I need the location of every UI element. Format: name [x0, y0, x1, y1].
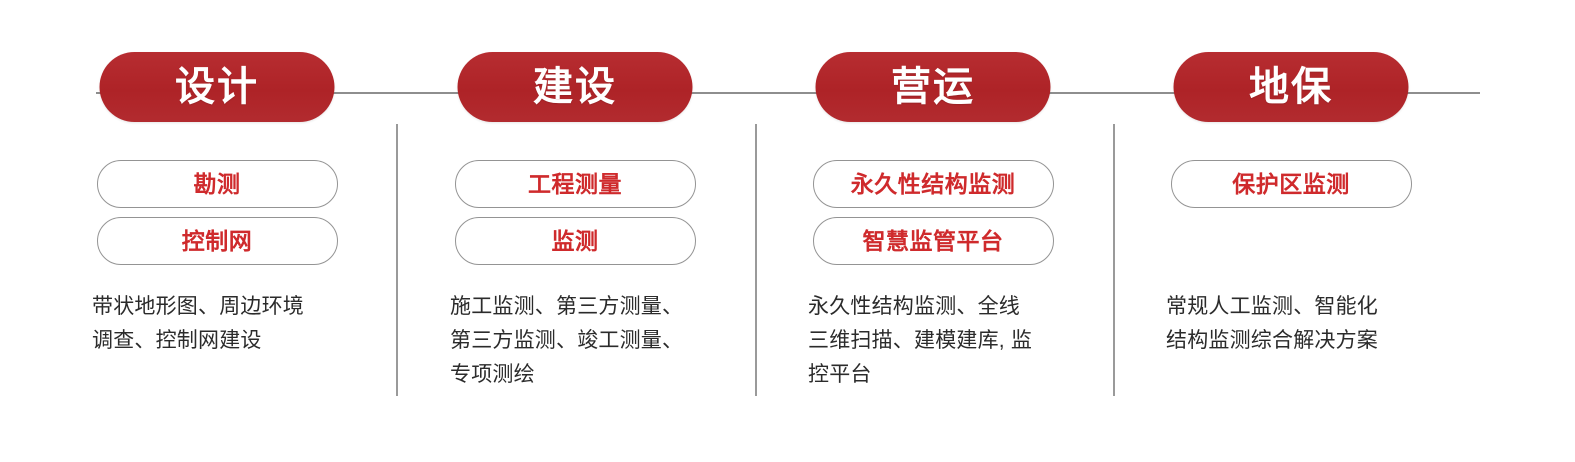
sub-pill-item[interactable]: 工程测量 — [455, 160, 696, 208]
stage-header-label: 营运 — [891, 67, 975, 107]
description-line: 控平台 — [808, 358, 1058, 392]
sub-pill-label: 保护区监测 — [1232, 173, 1350, 196]
description-line: 常规人工监测、智能化 — [1166, 290, 1416, 324]
sub-pill-group-design: 勘测 控制网 — [38, 160, 396, 265]
stage-description-design: 带状地形图、周边环境 调查、控制网建设 — [38, 290, 396, 358]
stage-header-label: 地保 — [1249, 67, 1333, 107]
stage-header-pill-operations[interactable]: 营运 — [816, 52, 1051, 122]
description-line: 调查、控制网建设 — [92, 324, 342, 358]
sub-pill-item[interactable]: 永久性结构监测 — [813, 160, 1054, 208]
stage-header-pill-protection[interactable]: 地保 — [1174, 52, 1409, 122]
sub-pill-group-construction: 工程测量 监测 — [396, 160, 754, 265]
stage-header-label: 建设 — [533, 67, 617, 107]
sub-pill-group-protection: 保护区监测 — [1112, 160, 1470, 208]
description-line: 专项测绘 — [450, 358, 700, 392]
stage-description-operations: 永久性结构监测、全线 三维扫描、建模建库, 监 控平台 — [754, 290, 1112, 392]
sub-pill-label: 勘测 — [194, 173, 241, 196]
description-line: 带状地形图、周边环境 — [92, 290, 342, 324]
sub-pill-group-operations: 永久性结构监测 智慧监管平台 — [754, 160, 1112, 265]
stage-description-protection: 常规人工监测、智能化 结构监测综合解决方案 — [1112, 290, 1470, 358]
stage-header-pill-construction[interactable]: 建设 — [458, 52, 693, 122]
sub-pill-item[interactable]: 控制网 — [97, 217, 338, 265]
stage-column-operations: 营运 永久性结构监测 智慧监管平台 永久性结构监测、全线 三维扫描、建模建库, … — [754, 0, 1112, 462]
description-line: 结构监测综合解决方案 — [1166, 324, 1416, 358]
sub-pill-item[interactable]: 保护区监测 — [1171, 160, 1412, 208]
sub-pill-label: 监测 — [552, 230, 599, 253]
sub-pill-label: 控制网 — [182, 230, 253, 253]
stage-columns: 设计 勘测 控制网 带状地形图、周边环境 调查、控制网建设 建设 — [0, 0, 1575, 462]
process-flow-diagram: 设计 勘测 控制网 带状地形图、周边环境 调查、控制网建设 建设 — [0, 0, 1575, 462]
stage-column-protection: 地保 保护区监测 常规人工监测、智能化 结构监测综合解决方案 — [1112, 0, 1470, 462]
sub-pill-item[interactable]: 勘测 — [97, 160, 338, 208]
stage-header-label: 设计 — [175, 67, 259, 107]
stage-header-pill-design[interactable]: 设计 — [100, 52, 335, 122]
sub-pill-item[interactable]: 监测 — [455, 217, 696, 265]
stage-column-construction: 建设 工程测量 监测 施工监测、第三方测量、 第三方监测、竣工测量、 专项测绘 — [396, 0, 754, 462]
sub-pill-label: 永久性结构监测 — [851, 173, 1016, 196]
stage-column-design: 设计 勘测 控制网 带状地形图、周边环境 调查、控制网建设 — [38, 0, 396, 462]
sub-pill-label: 工程测量 — [528, 173, 622, 196]
stage-description-construction: 施工监测、第三方测量、 第三方监测、竣工测量、 专项测绘 — [396, 290, 754, 392]
description-line: 三维扫描、建模建库, 监 — [808, 324, 1058, 358]
sub-pill-item[interactable]: 智慧监管平台 — [813, 217, 1054, 265]
description-line: 第三方监测、竣工测量、 — [450, 324, 700, 358]
sub-pill-label: 智慧监管平台 — [863, 230, 1004, 253]
description-line: 永久性结构监测、全线 — [808, 290, 1058, 324]
description-line: 施工监测、第三方测量、 — [450, 290, 700, 324]
